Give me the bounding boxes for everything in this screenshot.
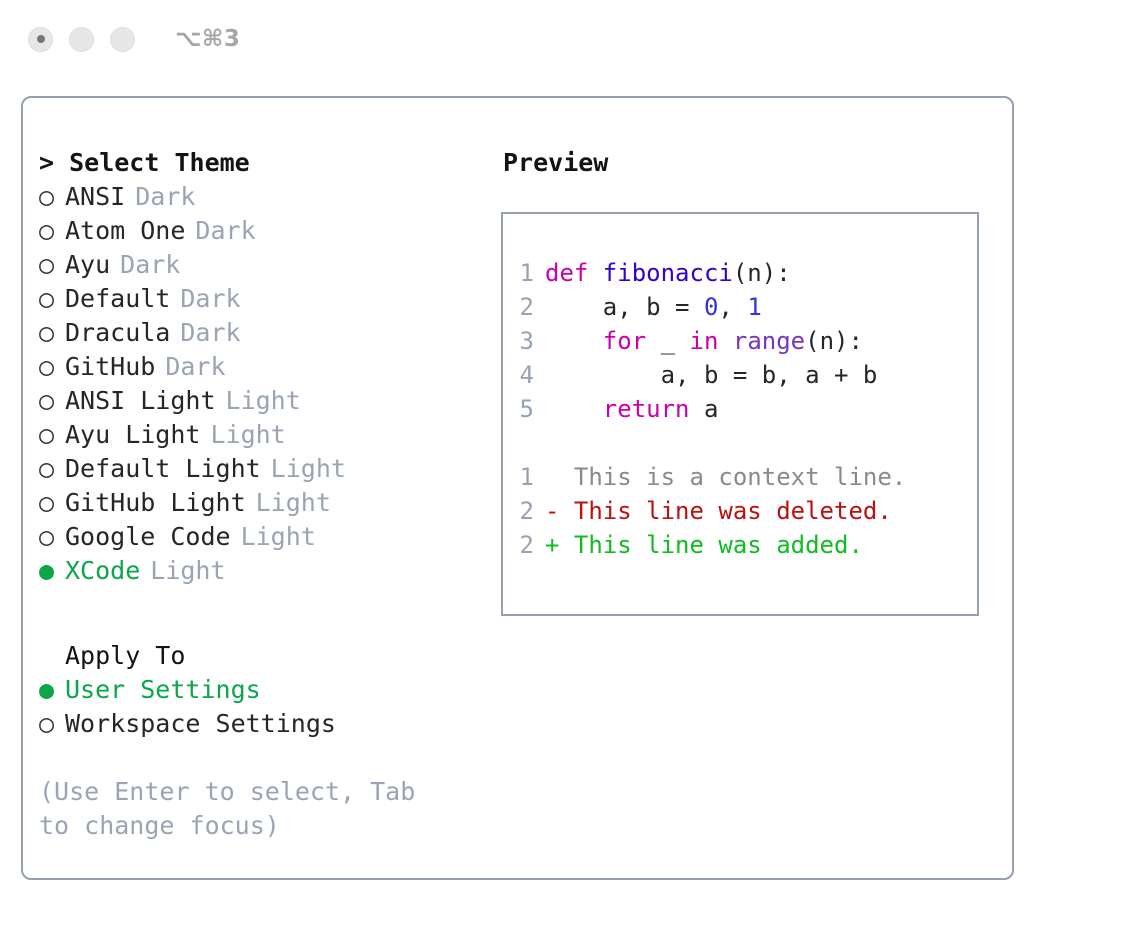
diff-line-sign [545,460,559,494]
code-token-plain [545,327,603,355]
radio-unselected-icon: ○ [39,316,65,350]
theme-option-ayu-light[interactable]: ○Ayu LightLight [39,418,501,452]
apply-to-option-label: User Settings [65,673,261,707]
radio-unselected-icon: ○ [39,486,65,520]
radio-selected-icon: ● [39,673,65,707]
theme-option-label: Dracula [65,316,170,350]
radio-unselected-icon: ○ [39,214,65,248]
window-controls [28,27,135,52]
code-token-kw: in [690,327,719,355]
apply-to-heading: Apply To [39,639,501,673]
theme-option-xcode[interactable]: ●XCodeLight [39,554,501,588]
preview-column: Preview 1def fibonacci(n):2 a, b = 0, 13… [501,98,1012,878]
radio-unselected-icon: ○ [39,282,65,316]
theme-option-github[interactable]: ○GitHubDark [39,350,501,384]
diff-line-add: 2+ This line was added. [503,528,977,562]
code-token-plain [718,327,732,355]
theme-option-label: Ayu Light [65,418,200,452]
theme-option-variant-tag: Light [140,554,225,588]
code-token-fn: fibonacci [603,259,733,287]
code-diff-separator [503,426,977,460]
theme-option-default-light[interactable]: ○Default LightLight [39,452,501,486]
code-token-kw: return [603,395,690,423]
radio-unselected-icon: ○ [39,180,65,214]
theme-option-variant-tag: Dark [110,248,180,282]
radio-unselected-icon: ○ [39,707,65,741]
keyboard-shortcut-label: ⌥⌘3 [175,26,240,52]
code-line-content: return a [545,392,718,426]
diff-line-content: This line was added. [559,528,862,562]
code-line-number: 1 [503,256,545,290]
theme-option-ansi-light[interactable]: ○ANSI LightLight [39,384,501,418]
diff-line-del: 2- This line was deleted. [503,494,977,528]
radio-selected-icon: ● [39,554,65,588]
theme-option-label: GitHub Light [65,486,246,520]
theme-option-label: ANSI [65,180,125,214]
code-line-number: 5 [503,392,545,426]
select-theme-heading: > Select Theme [39,146,501,180]
window-dot-maximize[interactable] [110,27,135,52]
main-panel: > Select Theme ○ANSIDark○Atom OneDark○Ay… [21,96,1014,880]
diff-line-number: 2 [503,494,545,528]
keyboard-hint-text: (Use Enter to select, Tab to change focu… [39,775,459,843]
code-token-num: 0 [704,293,718,321]
preview-heading: Preview [503,146,1012,180]
diff-line-content: This is a context line. [559,460,906,494]
window-dot-close[interactable] [28,27,53,52]
preview-box: 1def fibonacci(n):2 a, b = 0, 13 for _ i… [501,212,979,616]
app-window: ⌥⌘3 > Select Theme ○ANSIDark○Atom OneDar… [0,0,1140,934]
code-token-plain: (n): [733,259,791,287]
code-line-number: 3 [503,324,545,358]
apply-to-option-workspace-settings[interactable]: ○Workspace Settings [39,707,501,741]
radio-unselected-icon: ○ [39,384,65,418]
diff-line-number: 1 [503,460,545,494]
theme-option-label: Default Light [65,452,261,486]
theme-option-variant-tag: Dark [170,282,240,316]
radio-unselected-icon: ○ [39,520,65,554]
theme-option-google-code[interactable]: ○Google CodeLight [39,520,501,554]
theme-option-label: Default [65,282,170,316]
code-token-plain [545,395,603,423]
code-token-plain: a [690,395,719,423]
theme-option-github-light[interactable]: ○GitHub LightLight [39,486,501,520]
theme-option-ansi[interactable]: ○ANSIDark [39,180,501,214]
diff-line-sign: + [545,528,559,562]
code-line-content: def fibonacci(n): [545,256,791,290]
theme-option-label: Google Code [65,520,231,554]
code-line: 1def fibonacci(n): [503,256,977,290]
theme-option-ayu[interactable]: ○AyuDark [39,248,501,282]
diff-line-content: This line was deleted. [559,494,891,528]
code-line-content: for _ in range(n): [545,324,863,358]
radio-unselected-icon: ○ [39,452,65,486]
theme-option-label: Atom One [65,214,185,248]
window-titlebar: ⌥⌘3 [0,0,1140,78]
theme-option-default[interactable]: ○DefaultDark [39,282,501,316]
code-token-plain: , [718,293,747,321]
code-token-call: range [733,327,805,355]
section-spacer [39,588,501,639]
code-token-kw: def [545,259,603,287]
theme-option-label: XCode [65,554,140,588]
code-line: 5 return a [503,392,977,426]
code-token-plain: _ [646,327,689,355]
theme-option-variant-tag: Dark [125,180,195,214]
code-token-plain: (n): [805,327,863,355]
diff-sample: 1 This is a context line.2- This line wa… [503,460,977,562]
theme-option-variant-tag: Light [261,452,346,486]
theme-selection-column: > Select Theme ○ANSIDark○Atom OneDark○Ay… [23,98,501,878]
theme-option-label: GitHub [65,350,155,384]
theme-option-list[interactable]: ○ANSIDark○Atom OneDark○AyuDark○DefaultDa… [39,180,501,588]
code-token-plain: a, b = [545,293,704,321]
theme-option-variant-tag: Dark [155,350,225,384]
code-line: 4 a, b = b, a + b [503,358,977,392]
code-token-kw: for [603,327,646,355]
code-line-number: 4 [503,358,545,392]
diff-line-number: 2 [503,528,545,562]
theme-option-variant-tag: Light [216,384,301,418]
code-line-content: a, b = b, a + b [545,358,877,392]
code-line-content: a, b = 0, 1 [545,290,762,324]
code-token-plain: a, b = b, a + b [545,361,877,389]
diff-line-ctx: 1 This is a context line. [503,460,977,494]
theme-option-label: Ayu [65,248,110,282]
code-line: 3 for _ in range(n): [503,324,977,358]
theme-option-variant-tag: Light [231,520,316,554]
diff-line-sign: - [545,494,559,528]
window-dot-minimize[interactable] [69,27,94,52]
code-token-num: 1 [747,293,761,321]
theme-option-variant-tag: Light [200,418,285,452]
theme-option-label: ANSI Light [65,384,216,418]
radio-unselected-icon: ○ [39,418,65,452]
radio-unselected-icon: ○ [39,248,65,282]
apply-to-option-list[interactable]: ●User Settings○Workspace Settings [39,673,501,741]
theme-option-atom-one[interactable]: ○Atom OneDark [39,214,501,248]
theme-option-variant-tag: Dark [185,214,255,248]
radio-unselected-icon: ○ [39,350,65,384]
theme-option-variant-tag: Light [246,486,331,520]
theme-option-dracula[interactable]: ○DraculaDark [39,316,501,350]
theme-option-variant-tag: Dark [170,316,240,350]
code-line: 2 a, b = 0, 1 [503,290,977,324]
code-line-number: 2 [503,290,545,324]
window-dot-active-indicator [37,35,45,43]
code-sample: 1def fibonacci(n):2 a, b = 0, 13 for _ i… [503,256,977,426]
apply-to-option-user-settings[interactable]: ●User Settings [39,673,501,707]
apply-to-option-label: Workspace Settings [65,707,336,741]
